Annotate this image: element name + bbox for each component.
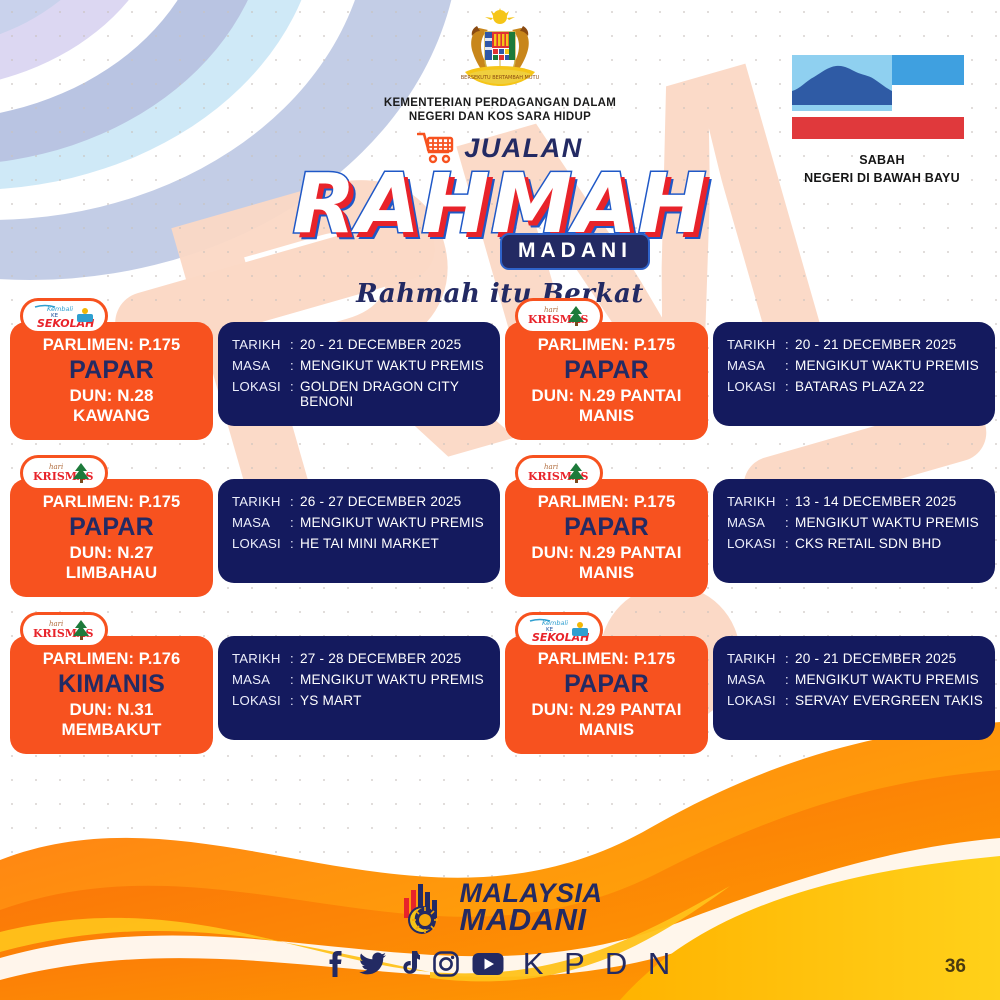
event-card[interactable]: hari KRISMAS PARLIMEN: P.175 PAPAR DUN: … xyxy=(505,300,995,450)
svg-text:BERSEKUTU BERTAMBAH MUTU: BERSEKUTU BERTAMBAH MUTU xyxy=(461,75,540,81)
lokasi-value: HE TAI MINI MARKET xyxy=(300,536,439,551)
hari-krismas-badge-icon: hari KRISMAS xyxy=(515,298,603,334)
rahmah-logo-lockup: JUALAN RAHMAH MADANI Rahmah itu Berkat xyxy=(0,128,1000,309)
parlimen-name: PAPAR xyxy=(564,356,649,385)
masa-key: MASA xyxy=(232,515,290,530)
hari-krismas-badge-icon: hari KRISMAS xyxy=(515,455,603,491)
constituency-panel: PARLIMEN: P.176 KIMANIS DUN: N.31 MEMBAK… xyxy=(10,636,213,754)
event-card[interactable]: Kembali KE SEKOLAH PARLIMEN: P.175 PAPAR… xyxy=(10,300,500,450)
social-links: K P D N xyxy=(0,946,1000,982)
dun-label: DUN: N.29 PANTAI xyxy=(531,700,681,720)
masa-key: MASA xyxy=(727,672,785,687)
colon: : xyxy=(290,494,300,509)
event-details-panel: TARIKH:27 - 28 DECEMBER 2025 MASA:MENGIK… xyxy=(218,636,500,740)
colon: : xyxy=(785,379,795,394)
masa-value: MENGIKUT WAKTU PREMIS xyxy=(795,672,979,687)
kembali-ke-sekolah-badge-icon: Kembali KE SEKOLAH xyxy=(515,612,603,648)
event-details-panel: TARIKH:20 - 21 DECEMBER 2025 MASA:MENGIK… xyxy=(713,322,995,426)
event-card-grid: Kembali KE SEKOLAH PARLIMEN: P.175 PAPAR… xyxy=(0,300,1000,765)
page-number: 36 xyxy=(945,956,966,978)
tarikh-key: TARIKH xyxy=(727,651,785,666)
lokasi-value: CKS RETAIL SDN BHD xyxy=(795,536,941,551)
tarikh-key: TARIKH xyxy=(232,651,290,666)
event-details-panel: TARIKH:20 - 21 DECEMBER 2025 MASA:MENGIK… xyxy=(218,322,500,426)
constituency-panel: PARLIMEN: P.175 PAPAR DUN: N.29 PANTAI M… xyxy=(505,636,708,754)
brand-line-2: MADANI xyxy=(460,906,603,935)
colon: : xyxy=(290,358,300,373)
twitter-icon[interactable] xyxy=(359,951,387,977)
masa-key: MASA xyxy=(232,358,290,373)
dun-name: MEMBAKUT xyxy=(62,720,162,740)
event-details-panel: TARIKH:26 - 27 DECEMBER 2025 MASA:MENGIK… xyxy=(218,479,500,583)
lokasi-value: YS MART xyxy=(300,693,362,708)
masa-key: MASA xyxy=(727,358,785,373)
madani-badge: MADANI xyxy=(500,233,650,270)
colon: : xyxy=(785,494,795,509)
tarikh-value: 13 - 14 DECEMBER 2025 xyxy=(795,494,956,509)
masa-value: MENGIKUT WAKTU PREMIS xyxy=(300,358,484,373)
dun-name: KAWANG xyxy=(73,406,150,426)
constituency-panel: PARLIMEN: P.175 PAPAR DUN: N.29 PANTAI M… xyxy=(505,479,708,597)
colon: : xyxy=(290,515,300,530)
parlimen-label: PARLIMEN: P.175 xyxy=(538,650,676,669)
event-details-panel: TARIKH:13 - 14 DECEMBER 2025 MASA:MENGIK… xyxy=(713,479,995,583)
sabah-flag-icon xyxy=(792,55,964,139)
lokasi-key: LOKASI xyxy=(727,379,785,394)
card-row: hari KRISMAS PARLIMEN: P.175 PAPAR DUN: … xyxy=(0,455,1000,610)
colon: : xyxy=(785,337,795,352)
constituency-panel: PARLIMEN: P.175 PAPAR DUN: N.28 KAWANG xyxy=(10,322,213,440)
masa-key: MASA xyxy=(727,515,785,530)
tarikh-key: TARIKH xyxy=(727,337,785,352)
colon: : xyxy=(785,515,795,530)
card-row: Kembali KE SEKOLAH PARLIMEN: P.175 PAPAR… xyxy=(0,300,1000,455)
dun-label: DUN: N.28 xyxy=(69,386,153,406)
instagram-icon[interactable] xyxy=(433,951,459,977)
dun-name: MANIS xyxy=(579,720,634,740)
parlimen-label: PARLIMEN: P.175 xyxy=(538,336,676,355)
dun-label: DUN: N.27 xyxy=(69,543,153,563)
colon: : xyxy=(290,651,300,666)
dun-label: DUN: N.31 xyxy=(69,700,153,720)
parlimen-label: PARLIMEN: P.175 xyxy=(538,493,676,512)
youtube-icon[interactable] xyxy=(472,952,504,976)
malaysia-madani-lockup: MALAYSIA MADANI xyxy=(0,880,1000,936)
constituency-panel: PARLIMEN: P.175 PAPAR DUN: N.27 LIMBAHAU xyxy=(10,479,213,597)
tiktok-icon[interactable] xyxy=(400,951,420,977)
hari-krismas-badge-icon: hari KRISMAS xyxy=(20,455,108,491)
event-card[interactable]: hari KRISMAS PARLIMEN: P.175 PAPAR DUN: … xyxy=(505,455,995,605)
colon: : xyxy=(785,693,795,708)
lokasi-key: LOKASI xyxy=(232,693,290,708)
colon: : xyxy=(290,693,300,708)
facebook-icon[interactable] xyxy=(324,951,346,977)
kpdn-handle: K P D N xyxy=(523,946,676,982)
colon: : xyxy=(785,358,795,373)
colon: : xyxy=(785,536,795,551)
tarikh-value: 20 - 21 DECEMBER 2025 xyxy=(300,337,461,352)
parlimen-name: KIMANIS xyxy=(58,670,165,699)
dun-label: DUN: N.29 PANTAI xyxy=(531,386,681,406)
masa-value: MENGIKUT WAKTU PREMIS xyxy=(795,358,979,373)
colon: : xyxy=(290,337,300,352)
masa-value: MENGIKUT WAKTU PREMIS xyxy=(795,515,979,530)
lokasi-key: LOKASI xyxy=(727,693,785,708)
lokasi-value: BATARAS PLAZA 22 xyxy=(795,379,925,394)
hari-krismas-badge-icon: hari KRISMAS xyxy=(20,612,108,648)
event-card[interactable]: hari KRISMAS PARLIMEN: P.176 KIMANIS DUN… xyxy=(10,610,500,760)
tarikh-key: TARIKH xyxy=(727,494,785,509)
malaysia-coat-of-arms-icon: BERSEKUTU BERTAMBAH MUTU xyxy=(439,8,561,92)
parlimen-label: PARLIMEN: P.175 xyxy=(43,336,181,355)
colon: : xyxy=(785,651,795,666)
parlimen-name: PAPAR xyxy=(69,513,154,542)
tarikh-key: TARIKH xyxy=(232,337,290,352)
event-card[interactable]: Kembali KE SEKOLAH PARLIMEN: P.175 PAPAR… xyxy=(505,610,995,760)
lokasi-key: LOKASI xyxy=(232,379,290,394)
kembali-ke-sekolah-badge-icon: Kembali KE SEKOLAH xyxy=(20,298,108,334)
tarikh-key: TARIKH xyxy=(232,494,290,509)
svg-text:Kembali: Kembali xyxy=(47,305,73,313)
tarikh-value: 20 - 21 DECEMBER 2025 xyxy=(795,337,956,352)
svg-text:Kembali: Kembali xyxy=(542,619,568,627)
lokasi-value: GOLDEN DRAGON CITY BENONI xyxy=(300,379,500,409)
constituency-panel: PARLIMEN: P.175 PAPAR DUN: N.29 PANTAI M… xyxy=(505,322,708,440)
tarikh-value: 26 - 27 DECEMBER 2025 xyxy=(300,494,461,509)
masa-value: MENGIKUT WAKTU PREMIS xyxy=(300,672,484,687)
lokasi-key: LOKASI xyxy=(232,536,290,551)
event-details-panel: TARIKH:20 - 21 DECEMBER 2025 MASA:MENGIK… xyxy=(713,636,995,740)
lokasi-value: SERVAY EVERGREEN TAKIS xyxy=(795,693,983,708)
lokasi-key: LOKASI xyxy=(727,536,785,551)
malaysia-madani-logo-icon xyxy=(398,880,450,936)
tarikh-value: 20 - 21 DECEMBER 2025 xyxy=(795,651,956,666)
dun-name: MANIS xyxy=(579,563,634,583)
parlimen-name: PAPAR xyxy=(564,670,649,699)
parlimen-name: PAPAR xyxy=(564,513,649,542)
colon: : xyxy=(290,379,300,394)
dun-label: DUN: N.29 PANTAI xyxy=(531,543,681,563)
masa-value: MENGIKUT WAKTU PREMIS xyxy=(300,515,484,530)
parlimen-name: PAPAR xyxy=(69,356,154,385)
card-row: hari KRISMAS PARLIMEN: P.176 KIMANIS DUN… xyxy=(0,610,1000,765)
tarikh-value: 27 - 28 DECEMBER 2025 xyxy=(300,651,461,666)
masa-key: MASA xyxy=(232,672,290,687)
colon: : xyxy=(290,536,300,551)
rahmah-wordmark: RAHMAH xyxy=(0,166,1000,244)
colon: : xyxy=(785,672,795,687)
footer: MALAYSIA MADANI K P D N xyxy=(0,880,1000,982)
colon: : xyxy=(290,672,300,687)
parlimen-label: PARLIMEN: P.176 xyxy=(43,650,181,669)
event-card[interactable]: hari KRISMAS PARLIMEN: P.175 PAPAR DUN: … xyxy=(10,455,500,605)
parlimen-label: PARLIMEN: P.175 xyxy=(43,493,181,512)
dun-name: LIMBAHAU xyxy=(66,563,157,583)
dun-name: MANIS xyxy=(579,406,634,426)
